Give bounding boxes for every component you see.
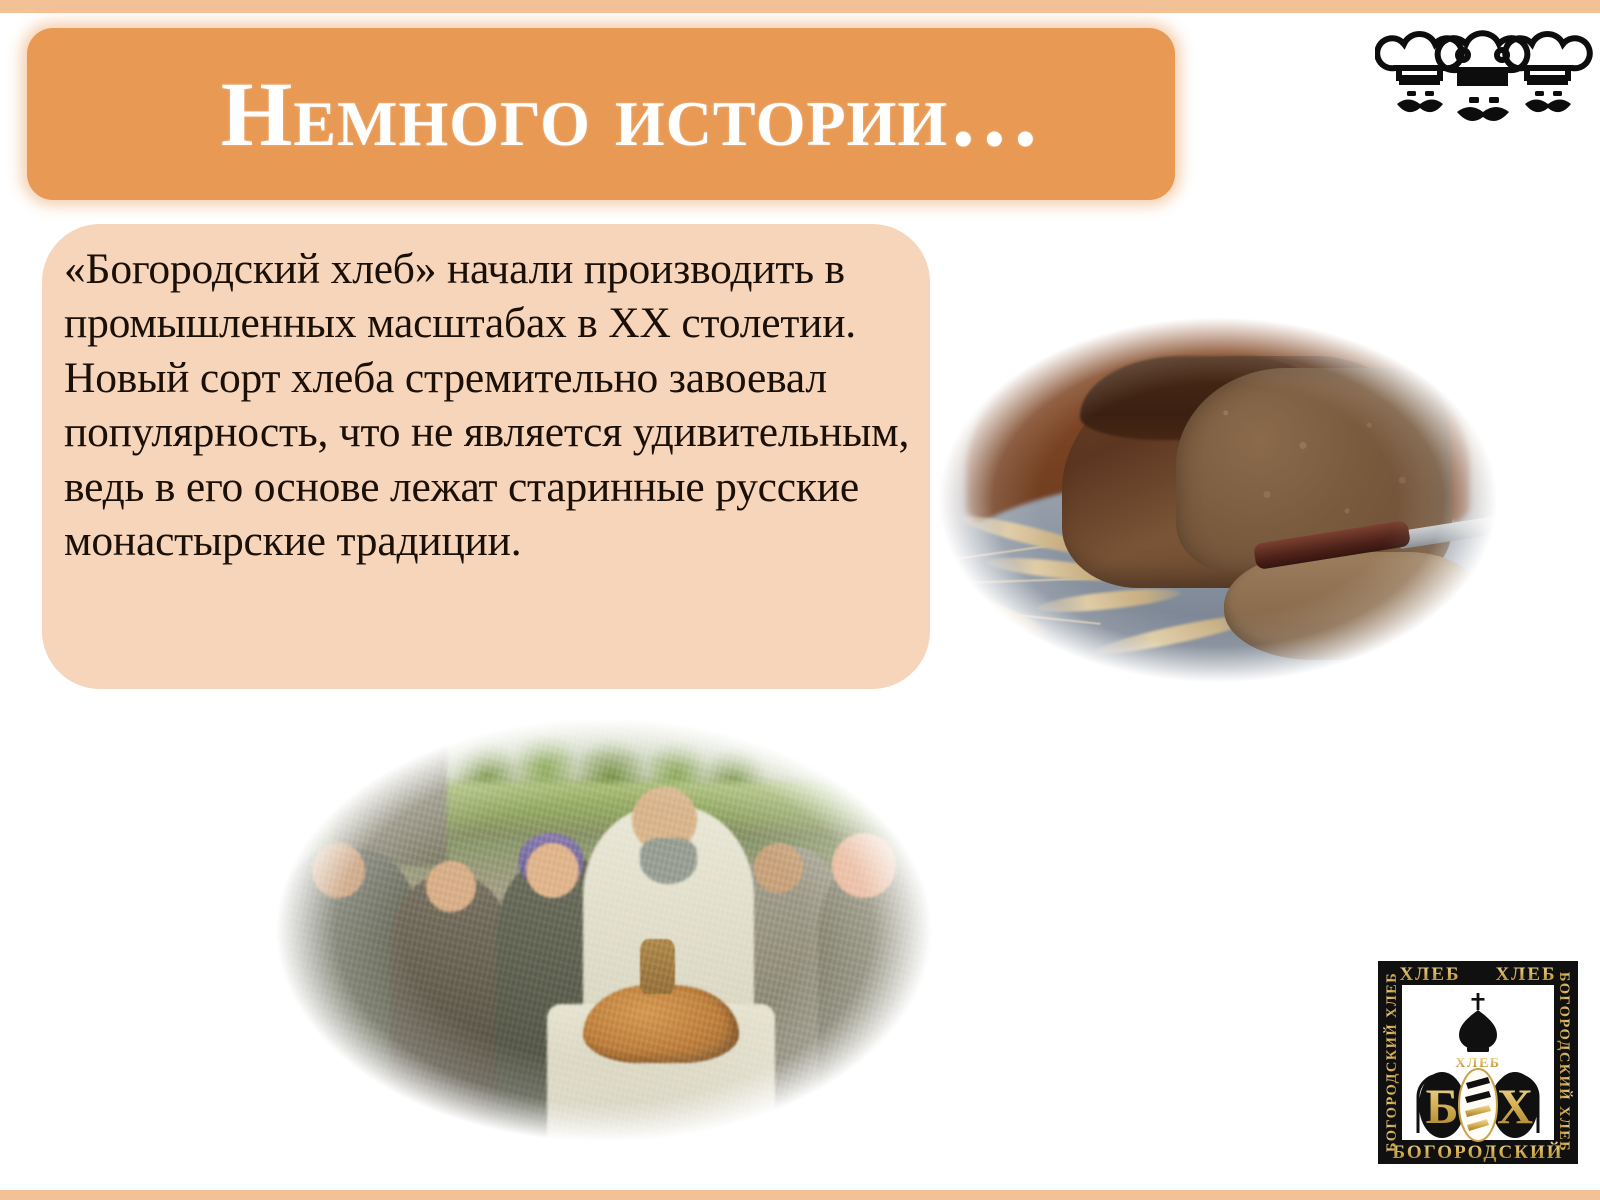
body-text-box: «Богородский хлеб» начали производить в … — [42, 224, 930, 689]
logo-top-left-word: ХЛЕБ — [1399, 964, 1460, 985]
eye-dot — [1489, 97, 1499, 103]
logo-monogram-left: Б — [1425, 1078, 1458, 1134]
bogorodsky-hleb-logo: ХЛЕБ ХЛЕБ БОГОРОДСКИЙ БОГОРОДСКИЙ ХЛЕБ Б… — [1372, 955, 1584, 1170]
slide-root: Немного истории… «Богородский хлеб» нача… — [0, 0, 1600, 1200]
logo-bottom-word: БОГОРОДСКИЙ — [1392, 1141, 1563, 1163]
eye-dot — [1469, 97, 1479, 103]
mustache-icon — [1457, 107, 1509, 121]
eye-dot — [1535, 91, 1544, 96]
logo-right-side-word: БОГОРОДСКИЙ ХЛЕБ — [1556, 972, 1573, 1152]
wheat-ear — [1036, 584, 1181, 616]
bread-scene — [918, 300, 1518, 700]
page-title: Немного истории… — [27, 68, 1175, 160]
painting-background — [248, 700, 960, 1160]
logo-left-side-word: БОГОРОДСКИЙ ХЛЕБ — [1383, 972, 1400, 1152]
eye-dot — [1407, 91, 1416, 96]
peasants-bread-salt-painting — [248, 700, 960, 1160]
logo-monogram-right: Х — [1497, 1078, 1533, 1134]
mustache-icon — [1525, 100, 1571, 113]
eye-dot — [1425, 91, 1434, 96]
decorative-band-top — [0, 0, 1600, 13]
eye-dot — [1553, 91, 1562, 96]
chef-hats-logo — [1375, 24, 1600, 134]
bread-loaf-icon — [1459, 1069, 1497, 1141]
bread-loaf-photo — [918, 300, 1518, 700]
chef-hat-icon — [1505, 34, 1590, 82]
logo-top-right-word: ХЛЕБ — [1495, 964, 1556, 985]
mustache-icon — [1397, 100, 1443, 113]
body-paragraph: «Богородский хлеб» начали производить в … — [64, 242, 910, 568]
decorative-band-bottom — [0, 1190, 1600, 1200]
wheat-ear — [937, 582, 1050, 641]
title-bar: Немного истории… — [27, 28, 1175, 200]
painting-brush-texture — [248, 700, 960, 1160]
